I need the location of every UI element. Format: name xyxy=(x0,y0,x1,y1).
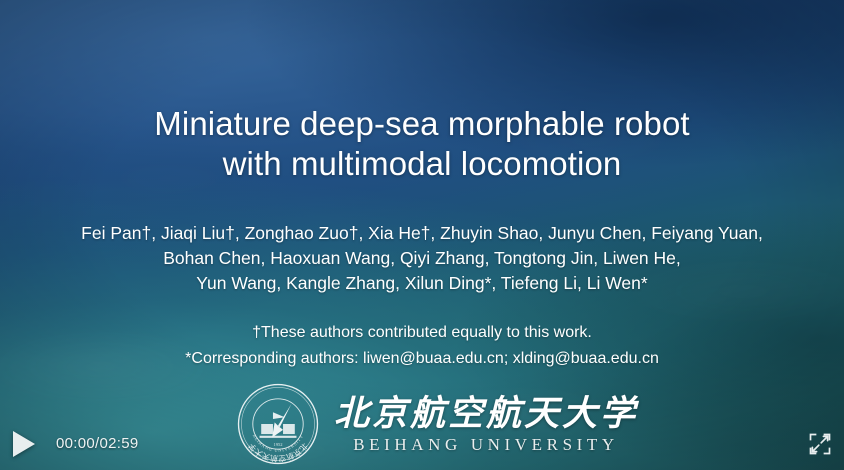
beihang-seal-icon: 北京航空航天大学 BEIHANG UNIVERSITY 1952 xyxy=(236,382,320,466)
title-slide: Miniature deep-sea morphable robot with … xyxy=(0,0,844,470)
page-title: Miniature deep-sea morphable robot with … xyxy=(0,104,844,184)
fullscreen-button[interactable] xyxy=(808,432,832,456)
university-logo: 北京航空航天大学 BEIHANG UNIVERSITY 1952 北京航空航天大… xyxy=(236,382,638,466)
author-list: Fei Pan†, Jiaqi Liu†, Zonghao Zuo†, Xia … xyxy=(0,221,844,296)
play-button[interactable] xyxy=(13,430,39,458)
title-line-2: with multimodal locomotion xyxy=(0,144,844,184)
timecode-display: 00:00/02:59 xyxy=(56,435,139,453)
university-name-en: BEIHANG UNIVERSITY xyxy=(353,435,619,455)
university-wordmark: 北京航空航天大学 BEIHANG UNIVERSITY xyxy=(334,394,638,455)
svg-text:1952: 1952 xyxy=(273,442,283,447)
university-name-cn: 北京航空航天大学 xyxy=(334,394,638,434)
video-player[interactable]: Miniature deep-sea morphable robot with … xyxy=(0,0,844,470)
title-line-1: Miniature deep-sea morphable robot xyxy=(0,104,844,144)
author-line-3: Yun Wang, Kangle Zhang, Xilun Ding*, Tie… xyxy=(0,271,844,296)
author-line-1: Fei Pan†, Jiaqi Liu†, Zonghao Zuo†, Xia … xyxy=(0,221,844,246)
corresponding-authors-note: *Corresponding authors: liwen@buaa.edu.c… xyxy=(0,346,844,372)
author-notes: †These authors contributed equally to th… xyxy=(0,320,844,372)
equal-contribution-note: †These authors contributed equally to th… xyxy=(0,320,844,346)
fullscreen-icon xyxy=(808,432,832,456)
author-line-2: Bohan Chen, Haoxuan Wang, Qiyi Zhang, To… xyxy=(0,246,844,271)
play-icon xyxy=(13,431,35,457)
